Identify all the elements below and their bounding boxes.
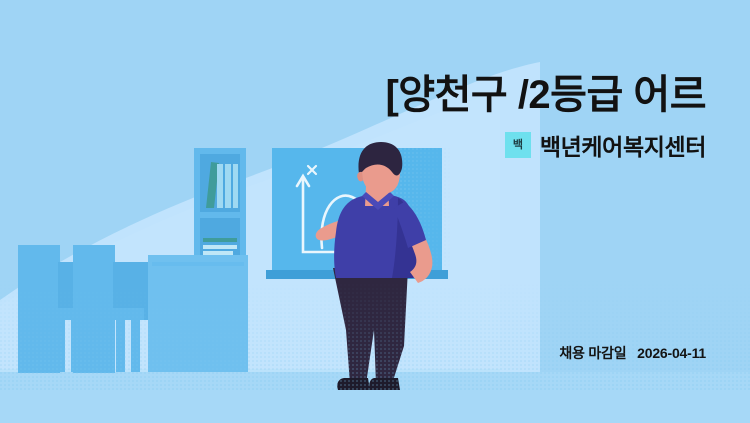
job-posting-poster: [양천구 /2등급 어르 백 백년케어복지센터 채용 마감일 2026-04-1… bbox=[0, 0, 750, 423]
book-stack-2 bbox=[203, 245, 237, 249]
deadline-row: 채용 마감일 2026-04-11 bbox=[559, 343, 706, 363]
page-title: [양천구 /2등급 어르 bbox=[0, 72, 706, 118]
book-stack-1 bbox=[203, 238, 237, 242]
book-3 bbox=[233, 164, 238, 208]
company-logo-badge: 백 bbox=[505, 132, 531, 158]
book-2 bbox=[225, 164, 231, 208]
company-name: 백년케어복지센터 bbox=[540, 128, 706, 162]
company-row: 백 백년케어복지센터 bbox=[505, 128, 706, 162]
deadline-label: 채용 마감일 bbox=[559, 345, 626, 361]
book-1 bbox=[217, 164, 223, 208]
deadline-date: 2026-04-11 bbox=[637, 345, 706, 361]
book-stack-3 bbox=[203, 251, 233, 255]
floor-speckle bbox=[0, 280, 750, 390]
